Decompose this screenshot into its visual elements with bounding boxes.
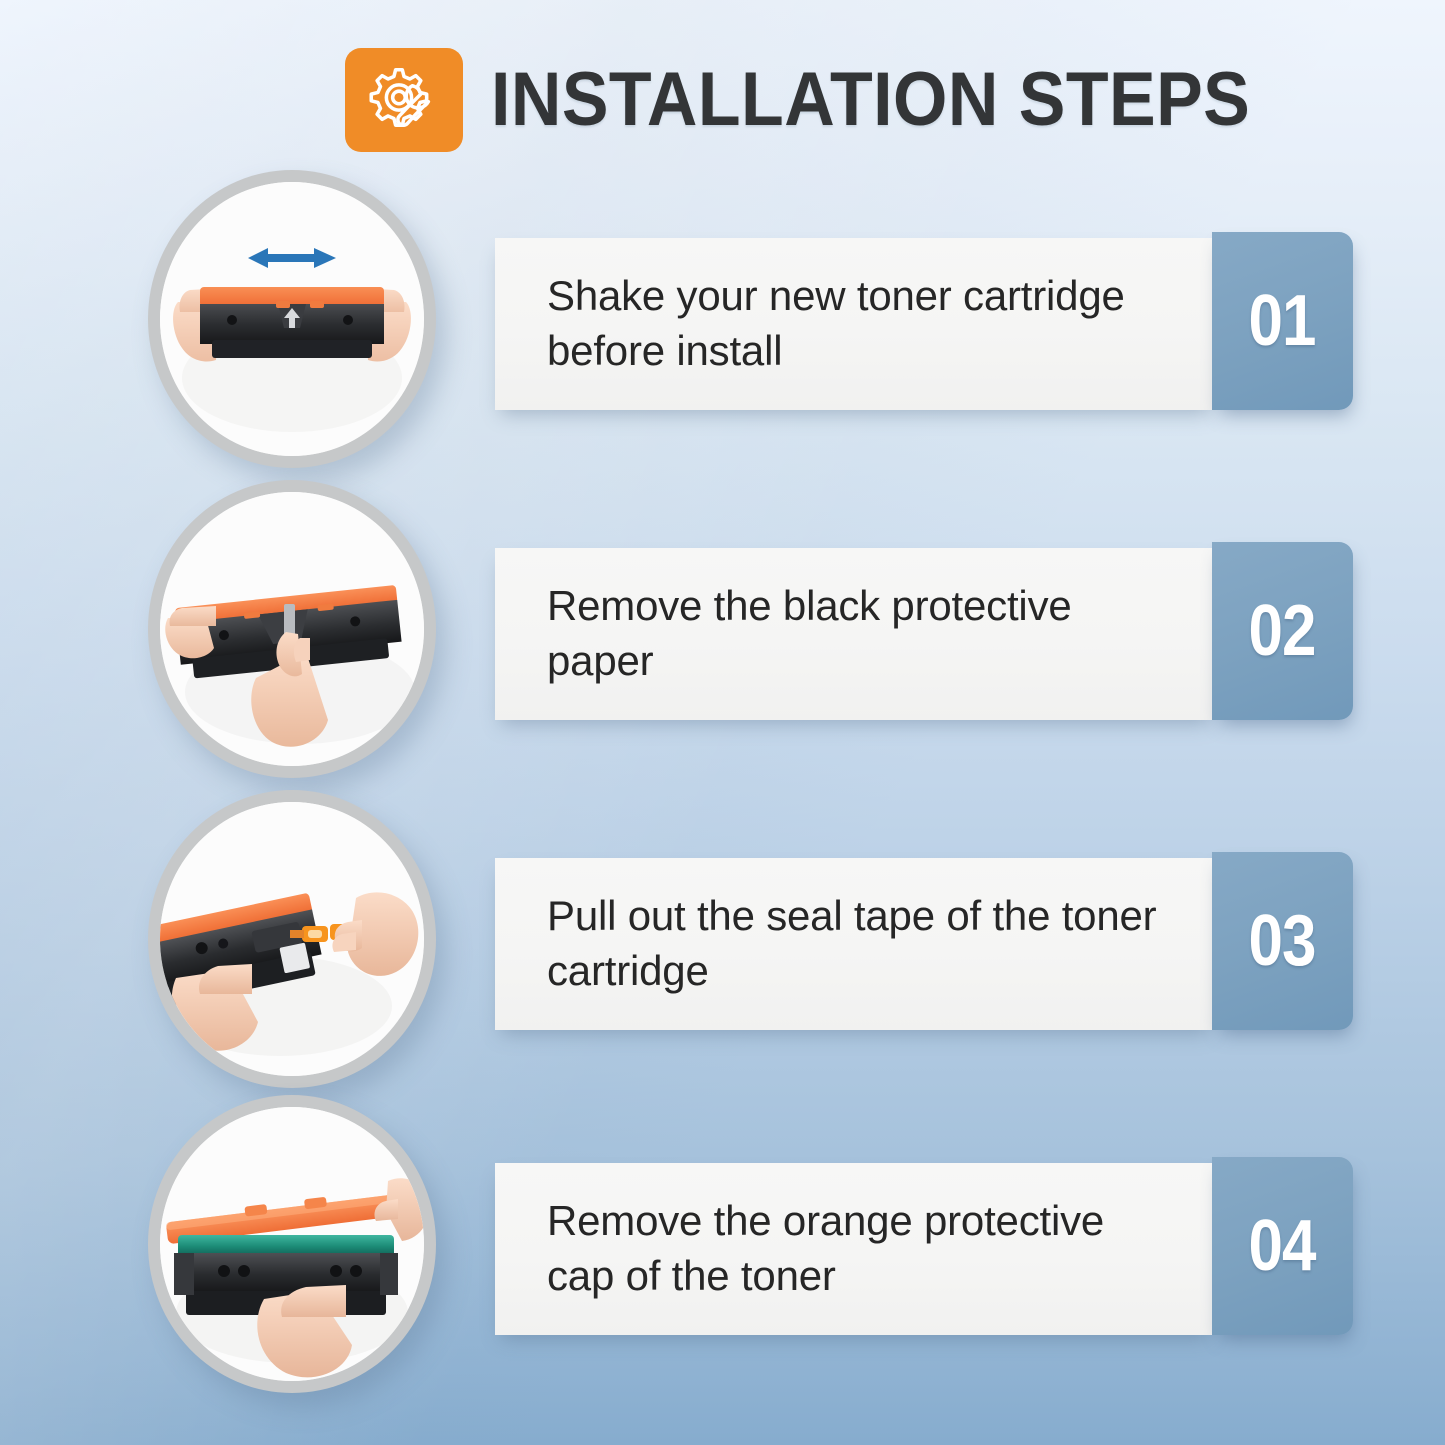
step-item: Remove the black protective paper 02 bbox=[0, 480, 1445, 780]
step-number-badge: 04 bbox=[1212, 1157, 1353, 1335]
page-title: INSTALLATION STEPS bbox=[491, 62, 1250, 138]
photo-image bbox=[160, 182, 424, 456]
step-number: 04 bbox=[1249, 1210, 1316, 1282]
page-header: INSTALLATION STEPS bbox=[345, 48, 1316, 152]
photo-image bbox=[160, 802, 424, 1076]
gear-wrench-icon bbox=[345, 48, 463, 152]
step-description: Remove the black protective paper bbox=[495, 579, 1215, 688]
step-card: Remove the orange protective cap of the … bbox=[495, 1157, 1353, 1335]
pull-seal-tape-photo bbox=[148, 790, 436, 1088]
step-number: 03 bbox=[1249, 905, 1316, 977]
step-number-badge: 02 bbox=[1212, 542, 1353, 720]
step-number: 02 bbox=[1249, 595, 1316, 667]
step-number-badge: 01 bbox=[1212, 232, 1353, 410]
step-card-body: Shake your new toner cartridge before in… bbox=[495, 238, 1215, 410]
photo-image bbox=[160, 1107, 424, 1381]
step-item: Remove the orange protective cap of the … bbox=[0, 1095, 1445, 1395]
step-card: Remove the black protective paper 02 bbox=[495, 542, 1353, 720]
step-card-body: Remove the orange protective cap of the … bbox=[495, 1163, 1215, 1335]
remove-orange-cap-photo bbox=[148, 1095, 436, 1393]
step-number: 01 bbox=[1249, 285, 1316, 357]
step-description: Pull out the seal tape of the toner cart… bbox=[495, 889, 1215, 998]
photo-image bbox=[160, 492, 424, 766]
step-card: Pull out the seal tape of the toner cart… bbox=[495, 852, 1353, 1030]
shake-cartridge-photo bbox=[148, 170, 436, 468]
remove-black-paper-photo bbox=[148, 480, 436, 778]
step-description: Remove the orange protective cap of the … bbox=[495, 1194, 1215, 1303]
step-card-body: Remove the black protective paper bbox=[495, 548, 1215, 720]
step-number-badge: 03 bbox=[1212, 852, 1353, 1030]
step-card-body: Pull out the seal tape of the toner cart… bbox=[495, 858, 1215, 1030]
step-item: Shake your new toner cartridge before in… bbox=[0, 170, 1445, 470]
step-item: Pull out the seal tape of the toner cart… bbox=[0, 790, 1445, 1090]
step-description: Shake your new toner cartridge before in… bbox=[495, 269, 1215, 378]
step-card: Shake your new toner cartridge before in… bbox=[495, 232, 1353, 410]
